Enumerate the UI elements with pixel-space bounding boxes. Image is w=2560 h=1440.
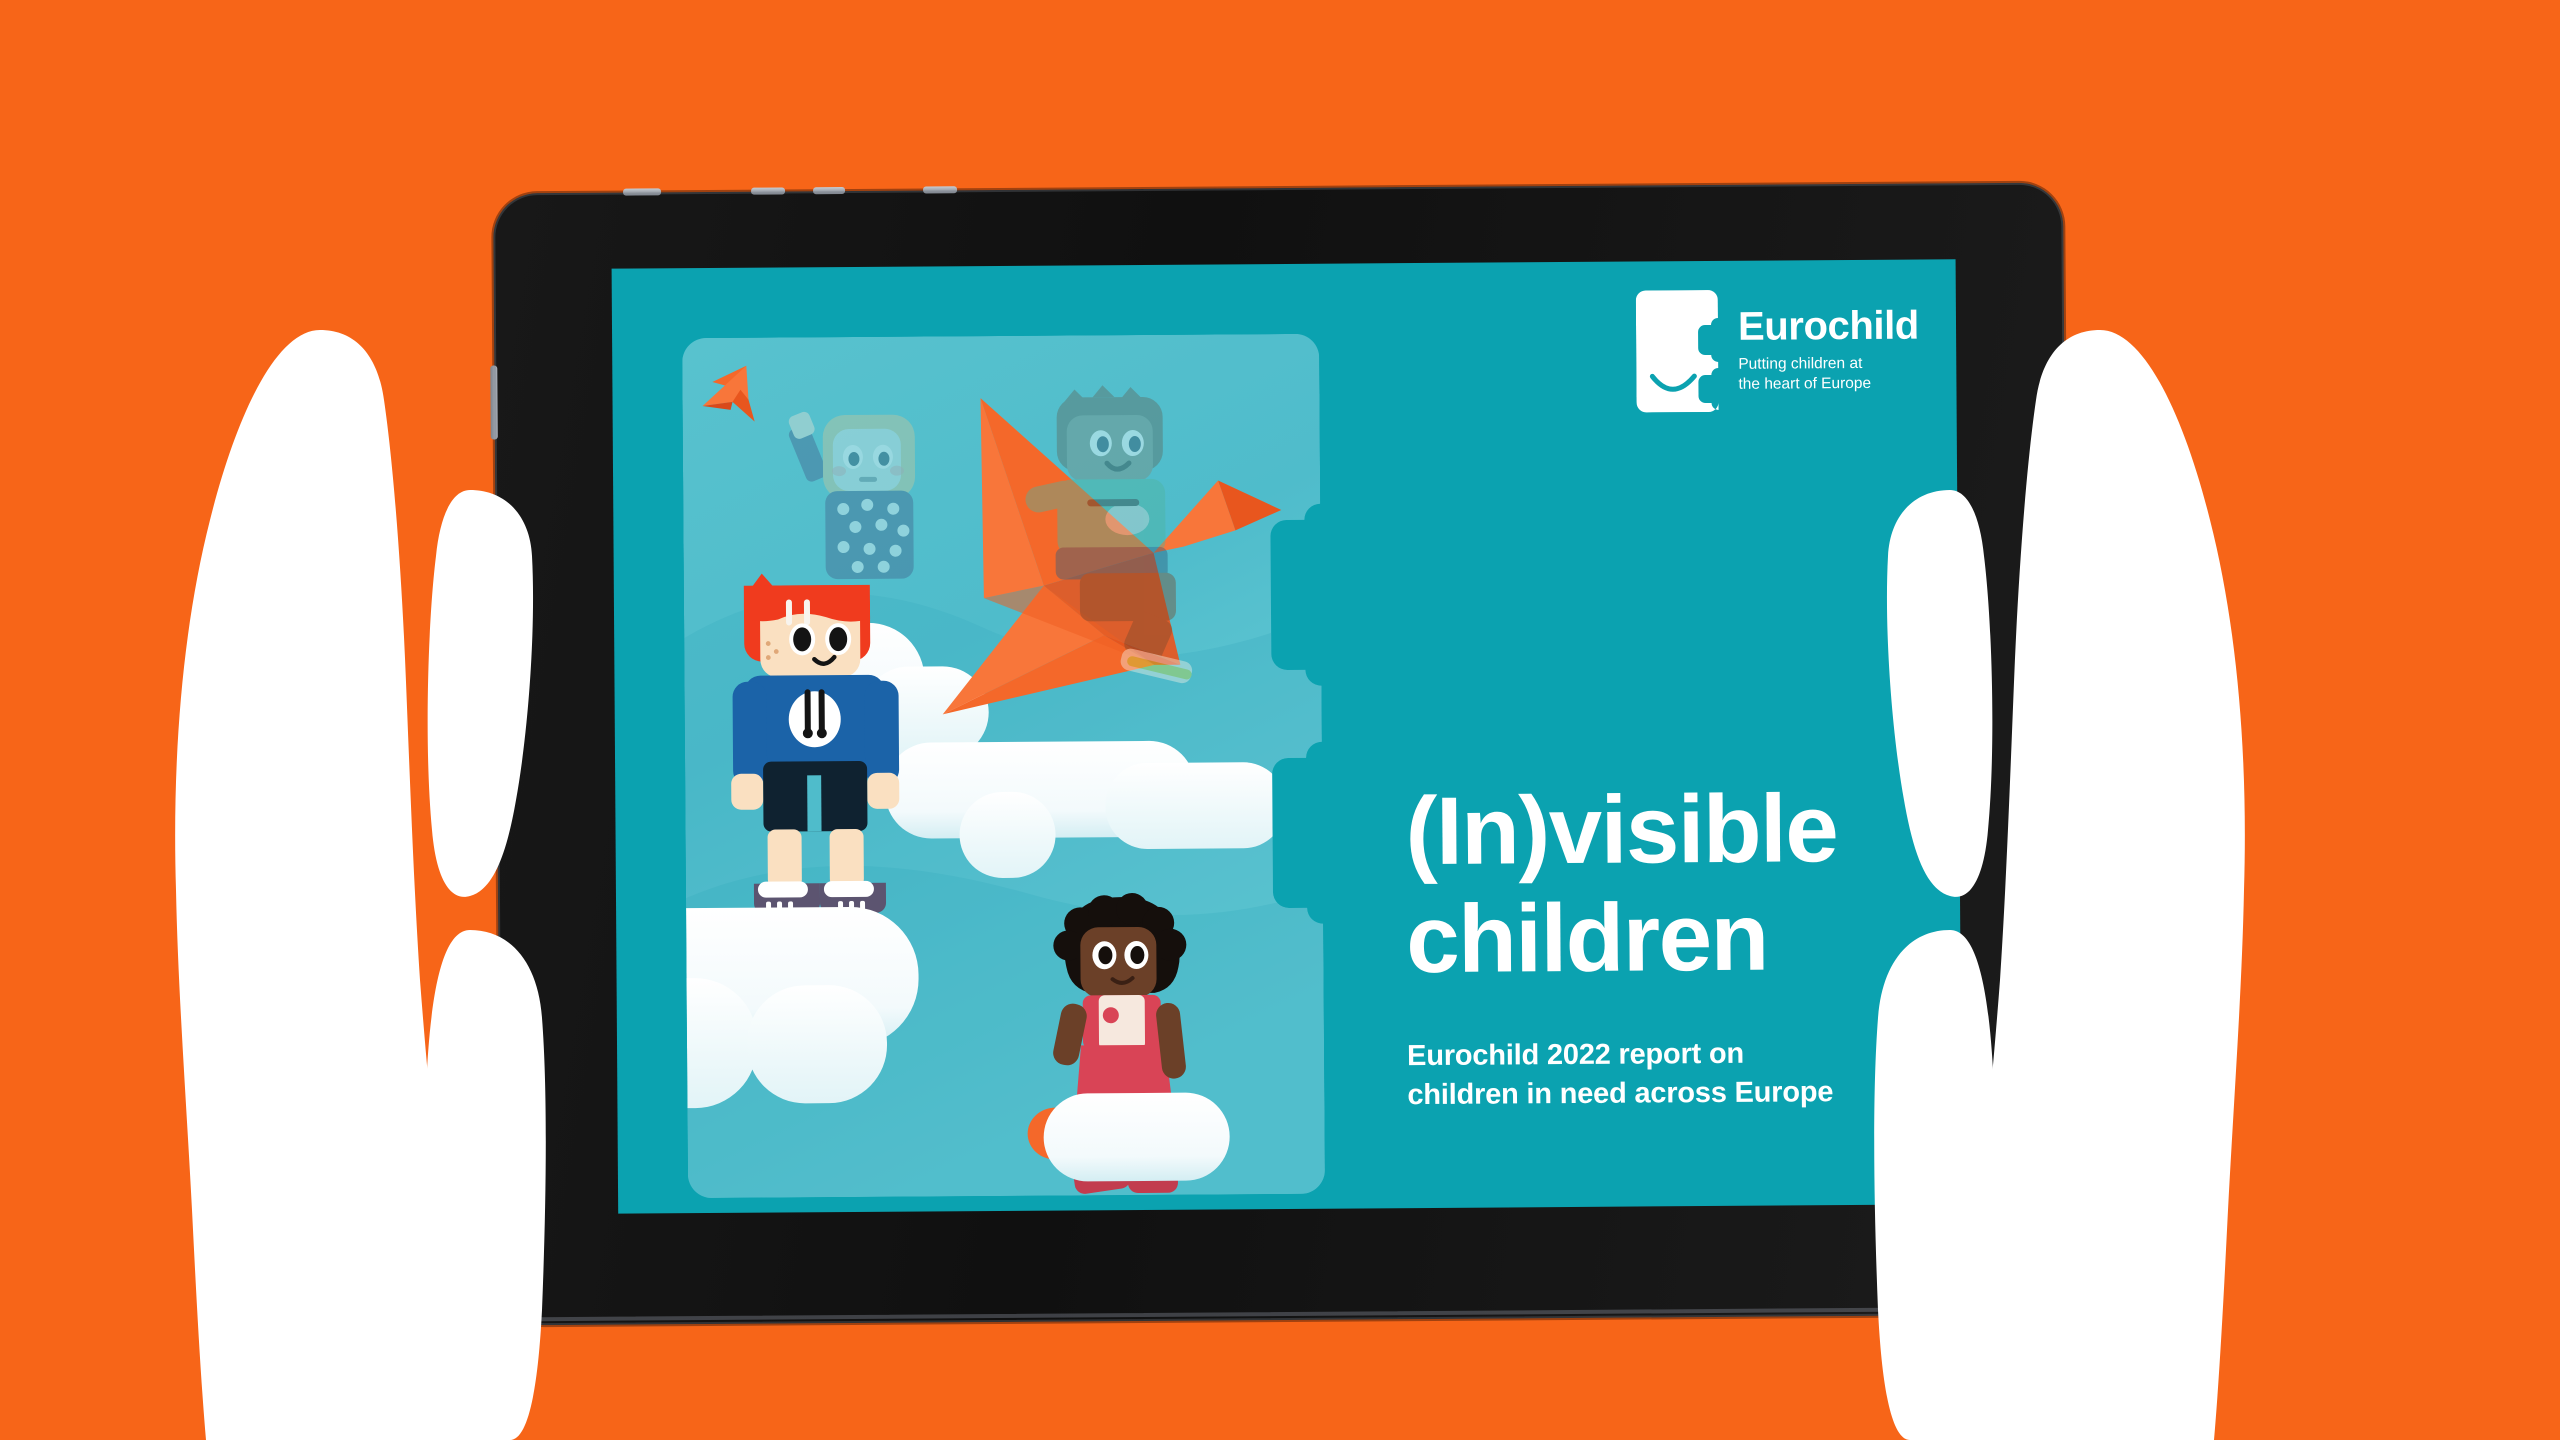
page-title-line2: children [1406,887,1927,989]
right-hand-silhouette [1850,330,2250,1440]
eurochild-smile-mark-icon [1636,290,1719,413]
camera-button[interactable] [813,187,845,194]
tablet-bottom-edge [521,1307,2051,1322]
poster-canvas: Eurochild Putting children at the heart … [0,0,2560,1440]
tablet-screen[interactable]: Eurochild Putting children at the heart … [612,259,1963,1213]
tablet-device[interactable]: Eurochild Putting children at the heart … [493,183,2071,1326]
cover-illustration [682,334,1325,1198]
volume-down-button[interactable] [751,187,785,194]
page-title-line1: (In)visible [1405,780,1926,882]
volume-up-button[interactable] [623,188,661,195]
left-hand-silhouette [170,330,570,1440]
power-button[interactable] [923,186,957,193]
